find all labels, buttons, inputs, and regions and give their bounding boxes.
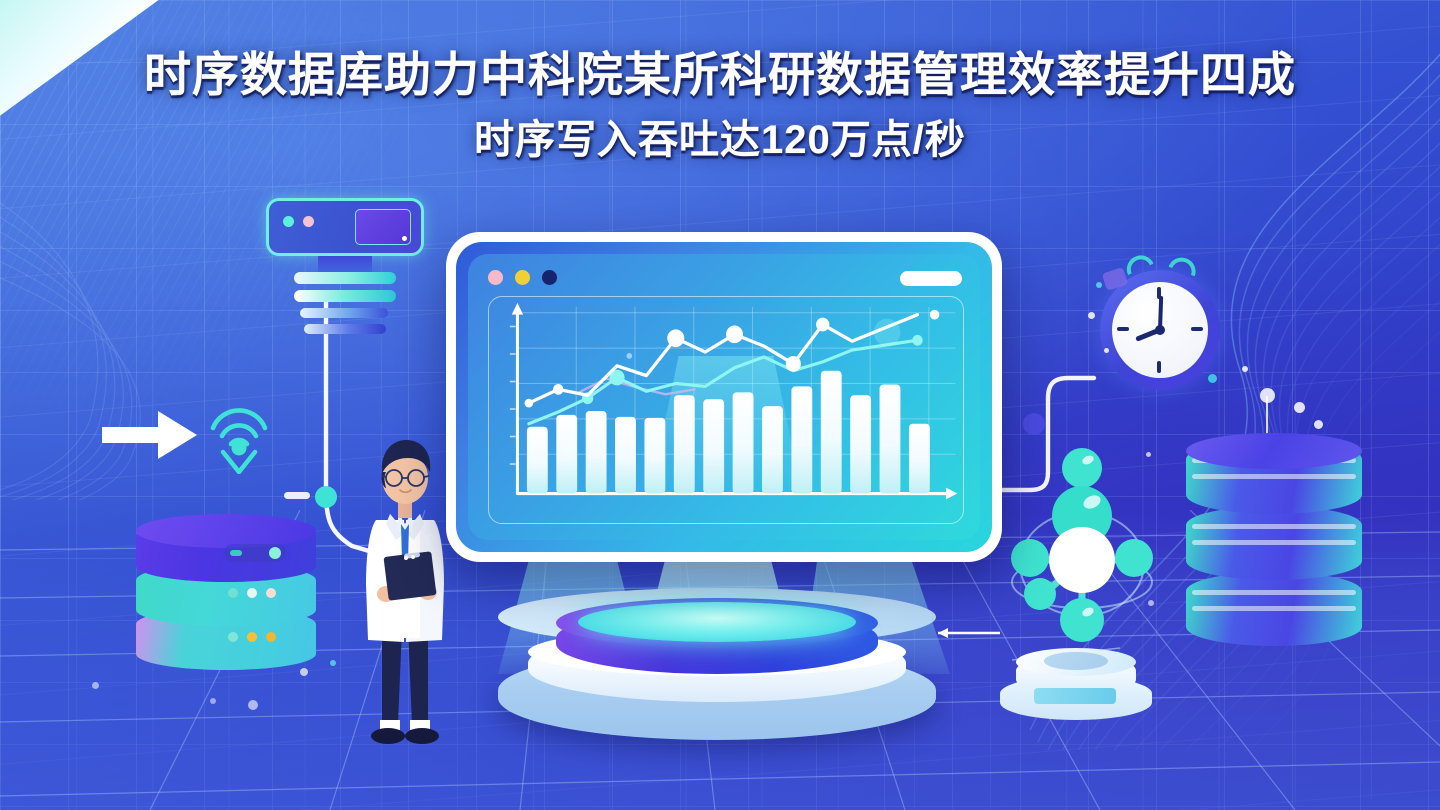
server-unit-icon <box>266 198 426 338</box>
data-stack-band <box>1192 524 1356 529</box>
database-toggle-indicator <box>224 544 286 562</box>
sparkle <box>1104 348 1109 353</box>
data-stack-band <box>1192 474 1356 479</box>
sparkle <box>1260 388 1275 403</box>
poster-title-block: 时序数据库助力中科院某所科研数据管理效率提升四成 时序写入吞吐达120万点/秒 <box>0 46 1440 165</box>
data-stack-top-face <box>1186 433 1362 469</box>
clock-tick-9 <box>1117 327 1129 331</box>
clock-tick-3 <box>1191 327 1203 331</box>
server-stack-row <box>300 308 388 318</box>
sparkle <box>1314 420 1323 429</box>
sparkle <box>248 700 258 710</box>
hologram-podium <box>498 588 936 740</box>
led-green-icon <box>283 216 294 227</box>
podium-glow <box>578 602 856 642</box>
database-cylinder-icon <box>136 520 316 678</box>
maximize-dot[interactable] <box>542 270 557 285</box>
alarm-clock-icon <box>1086 252 1238 402</box>
clock-center-pin <box>1155 325 1165 335</box>
data-stack-icon <box>1186 440 1362 652</box>
title-subtitle: 时序写入吞吐达120万点/秒 <box>0 116 1440 165</box>
inflow-arrow-icon <box>100 408 200 462</box>
server-chassis <box>266 198 424 256</box>
molecule-icon <box>996 432 1166 662</box>
server-stack-row <box>294 272 396 284</box>
toolbar-pill[interactable] <box>900 271 962 286</box>
sparkle <box>1096 282 1102 288</box>
server-stack-row <box>304 324 386 334</box>
data-stack-band <box>1192 590 1356 595</box>
clock-face <box>1112 282 1208 378</box>
sparkle <box>1208 374 1217 383</box>
database-status-dots <box>228 588 276 598</box>
server-screen <box>355 209 411 245</box>
sparkle <box>1242 366 1248 372</box>
data-stack-band <box>1192 540 1356 545</box>
clock-tick-6 <box>1157 361 1161 373</box>
chart-plot-area <box>488 296 964 524</box>
sparkle <box>210 698 216 704</box>
led-pink-icon <box>303 216 314 227</box>
window-control-dots[interactable] <box>488 270 557 285</box>
sparkle <box>1088 312 1095 319</box>
sparkle <box>330 660 336 666</box>
database-status-dots <box>228 632 276 642</box>
database-top-face <box>136 514 316 548</box>
pedestal-accent-slot <box>1034 688 1116 704</box>
data-stack-band <box>1192 606 1356 611</box>
title-main: 时序数据库助力中科院某所科研数据管理效率提升四成 <box>0 46 1440 103</box>
monitor-screen <box>468 254 980 540</box>
sparkle <box>1294 402 1305 413</box>
wifi-location-pin-icon <box>205 398 273 474</box>
sparkle <box>92 682 99 689</box>
dashboard-window[interactable] <box>446 232 1002 562</box>
server-stack-row <box>294 290 396 302</box>
close-dot[interactable] <box>488 270 503 285</box>
poster-canvas: 时序数据库助力中科院某所科研数据管理效率提升四成 时序写入吞吐达120万点/秒 <box>0 0 1440 810</box>
minimize-dot[interactable] <box>515 270 530 285</box>
